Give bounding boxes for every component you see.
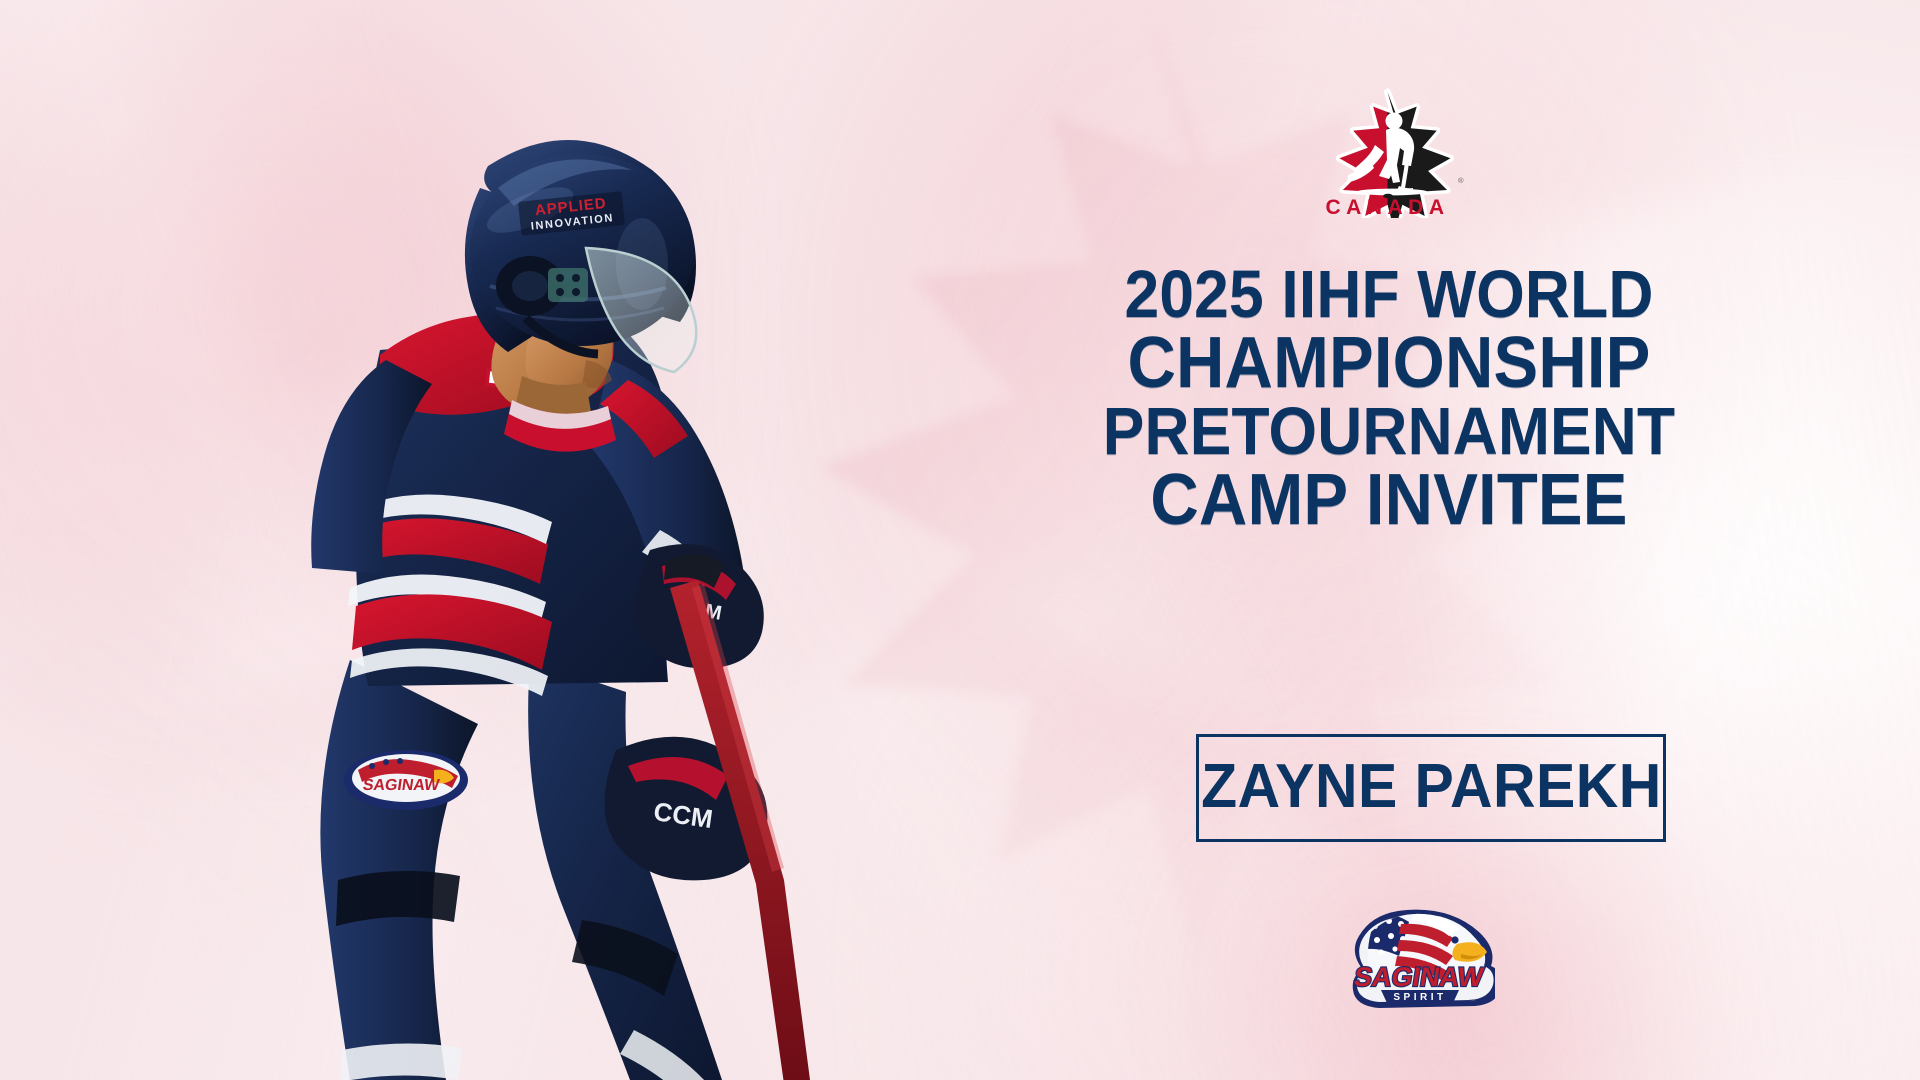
svg-text:SAGINAW: SAGINAW [362,776,442,794]
eagle-eye-icon [1451,936,1458,943]
trademark-mark: ™ [1469,998,1475,1005]
saginaw-wordmark: SAGINAW [1352,961,1486,992]
hockey-canada-logo: ® CANADA [1300,88,1475,218]
announcement-graphic: SAGINAW 19 [0,0,1920,1080]
player-name: ZAYNE PAREKH [1201,756,1662,821]
spirit-wordmark: SPIRIT [1393,992,1446,1003]
headline-line-4: CAMP INVITEE [1061,465,1718,536]
saginaw-spirit-logo: SAGINAW SPIRIT ™ [1345,906,1495,1010]
canada-wordmark: CANADA [1326,196,1450,218]
headline-line-3: PRETOURNAMENT [1061,399,1718,465]
player-photo: SAGINAW 19 [230,60,970,1080]
pants-patch-saginaw: SAGINAW [344,750,468,810]
registered-mark: ® [1458,176,1464,185]
helmet: APPLIED INNOVATION [465,140,696,372]
player-name-plate: ZAYNE PAREKH [1196,734,1666,842]
headline-line-2: CHAMPIONSHIP [1061,328,1718,399]
headline-line-1: 2025 IIHF WORLD [1061,262,1718,328]
headline: 2025 IIHF WORLD CHAMPIONSHIP PRETOURNAME… [1036,262,1742,536]
